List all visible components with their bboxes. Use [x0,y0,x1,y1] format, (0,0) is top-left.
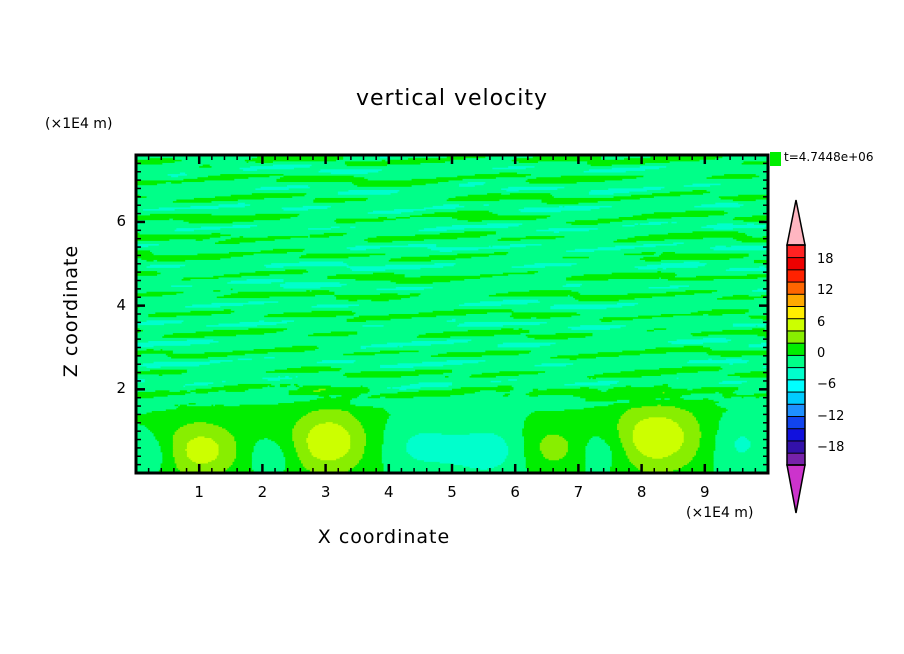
time-annotation: t=4.7448e+06 [784,150,873,164]
colorbar-tick-label: 18 [817,252,834,267]
x-tick-label: 5 [432,483,472,501]
x-tick-label: 2 [242,483,282,501]
x-tick-label: 9 [685,483,725,501]
x-tick-label: 1 [179,483,219,501]
z-unit-label: (×1E4 m) [45,116,112,132]
y-axis-title: Z coordinate [60,221,82,401]
y-tick-label: 4 [102,296,126,314]
time-annotation-swatch [770,152,781,166]
x-tick-label: 7 [558,483,598,501]
x-tick-label: 4 [369,483,409,501]
contour-field [136,155,769,474]
colorbar-over-arrow [787,200,805,245]
colorbar-tick-label: 12 [817,283,834,298]
figure-canvas: vertical velocity (×1E4 m) (×1E4 m) t=4.… [0,0,904,654]
y-tick-label: 2 [102,379,126,397]
x-tick-label: 6 [495,483,535,501]
plot-title: vertical velocity [0,86,904,111]
colorbar [787,200,805,513]
x-tick-label: 3 [306,483,346,501]
colorbar-under-arrow [787,465,805,513]
colorbar-tick-label: −6 [817,377,836,392]
colorbar-tick-label: −18 [817,440,844,455]
x-unit-label: (×1E4 m) [686,505,753,521]
colorbar-tick-label: 0 [817,346,825,361]
colorbar-tick-label: −12 [817,409,844,424]
x-axis-title: X coordinate [0,526,768,548]
y-tick-label: 6 [102,212,126,230]
x-tick-label: 8 [622,483,662,501]
colorbar-tick-label: 6 [817,315,825,330]
